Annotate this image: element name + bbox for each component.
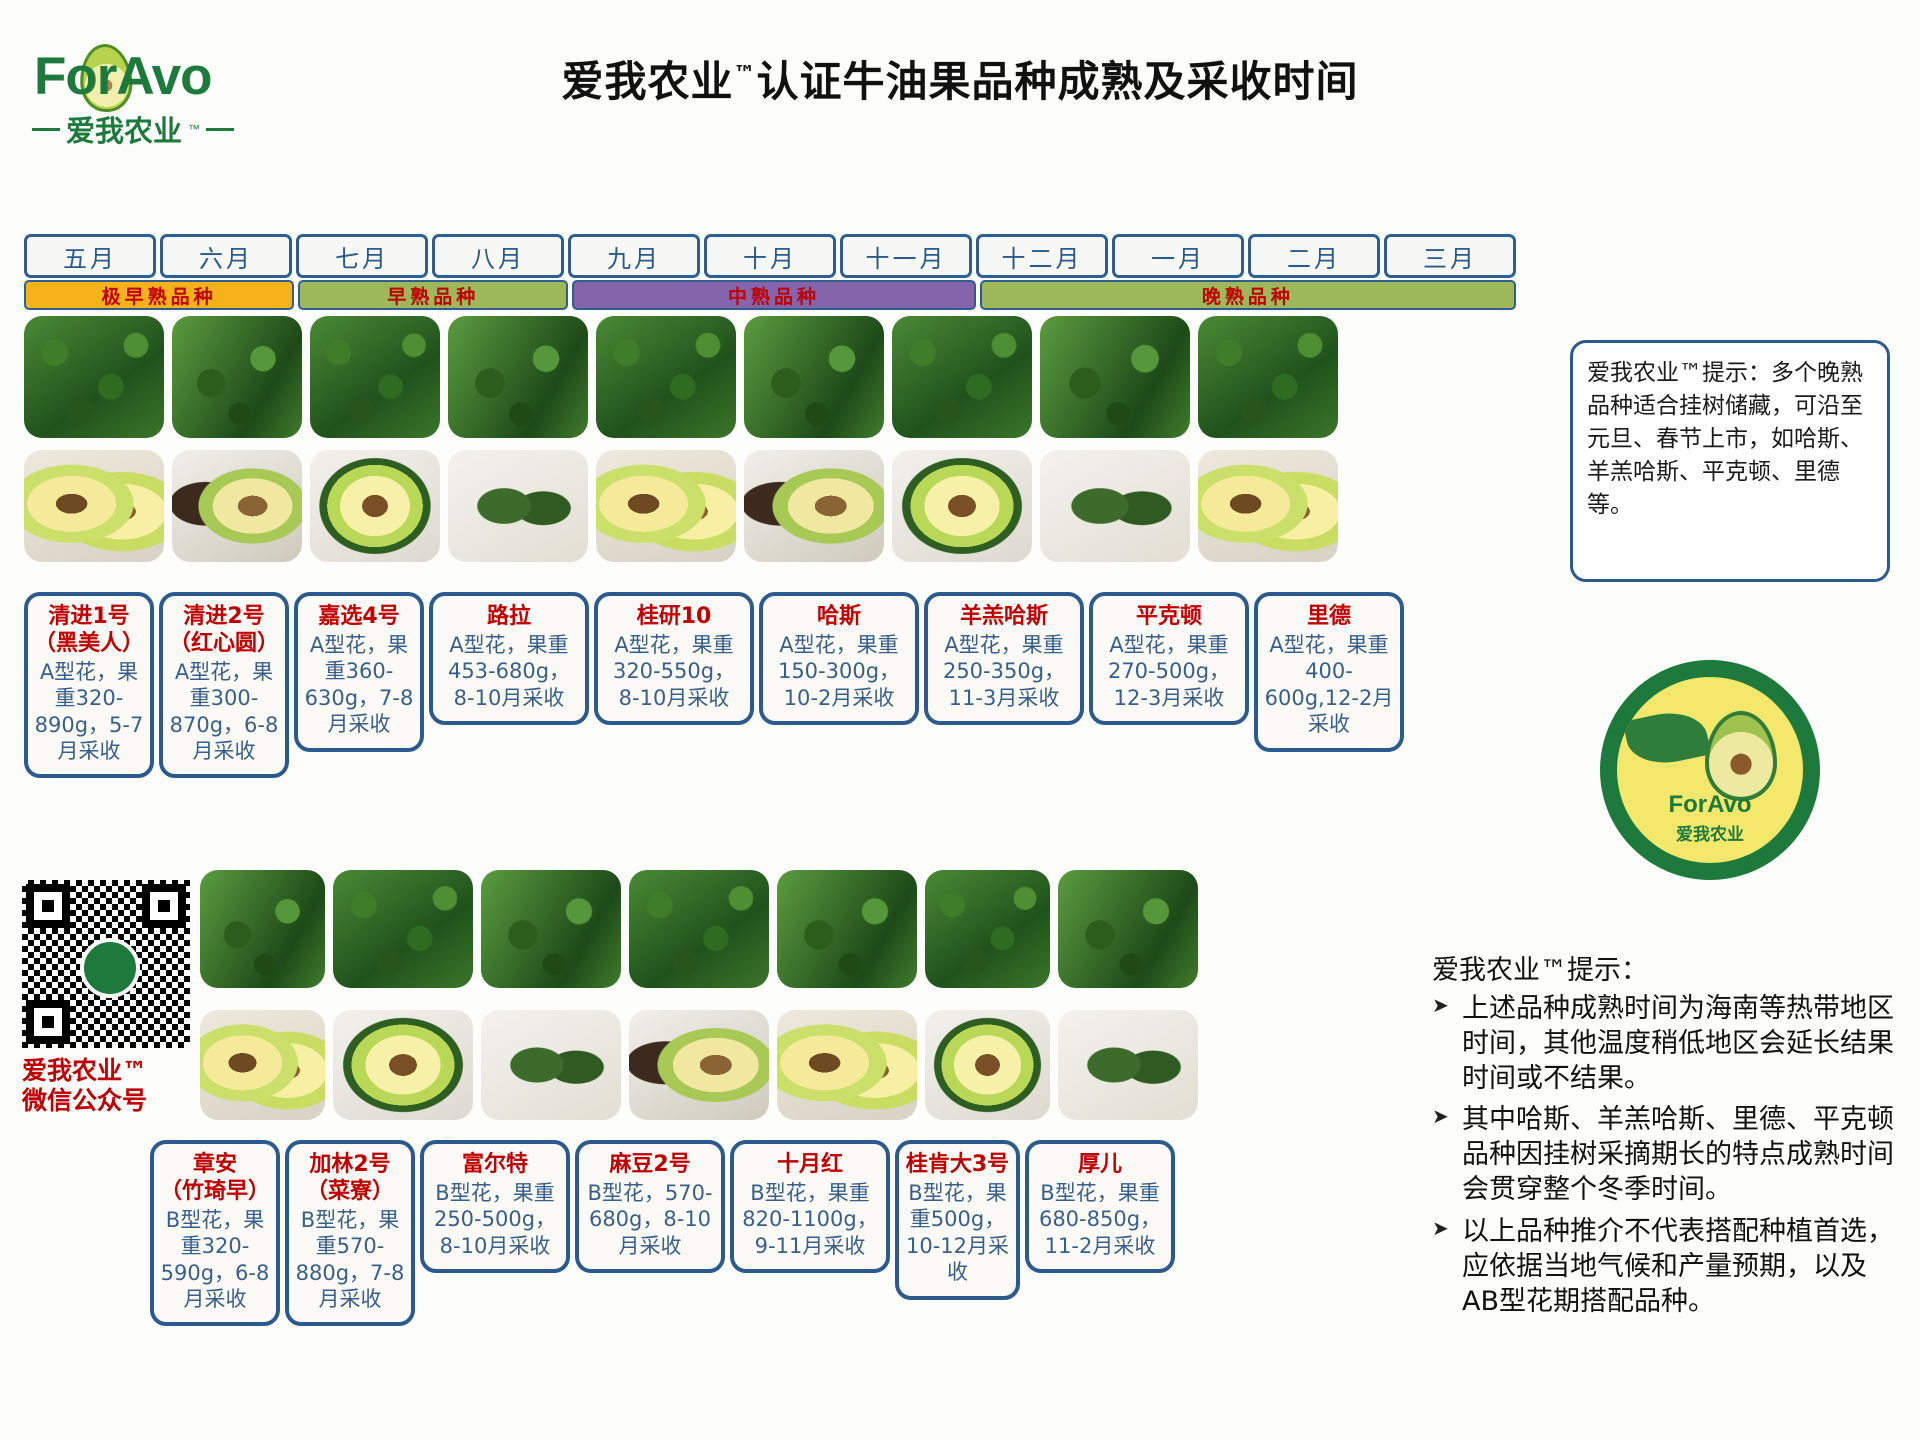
page-title-post: 认证牛油果品种成熟及采收时间: [757, 57, 1359, 106]
qr-caption: 爱我农业™ 微信公众号: [22, 1056, 192, 1116]
seal-inner: ForAvo 爱我农业: [1617, 677, 1803, 863]
fruit-photo-2: [172, 450, 302, 562]
title-trademark-icon: ™: [734, 62, 757, 87]
tip-box-top: 爱我农业™提示：多个晚熟品种适合挂树储藏，可沿至元旦、春节上市，如哈斯、羊羔哈斯…: [1570, 340, 1890, 582]
notes-list: 上述品种成熟时间为海南等热带地区时间，其他温度稍低地区会延长结果时间或不结果。其…: [1432, 991, 1902, 1319]
variety-description: A型花，果重250-350g，11-3月采收: [934, 632, 1074, 711]
variety-card-b-2[interactable]: 加林2号（菜寮）B型花，果重570-880g，7-8月采收: [285, 1140, 415, 1326]
tree-photo-12: [481, 870, 621, 988]
variety-name: 嘉选4号: [304, 604, 414, 631]
fruit-photo-11: [333, 1010, 473, 1120]
row1-variety-cards: 清进1号（黑美人）A型花，果重320-890g，5-7月采收清进2号（红心圆）A…: [24, 592, 1404, 778]
month-cell-1: 五月: [24, 234, 156, 278]
fruit-photo-6: [744, 450, 884, 562]
variety-description: A型花，果重270-500g，12-3月采收: [1099, 632, 1239, 711]
variety-description: A型花，果重300-870g，6-8月采收: [169, 659, 279, 765]
variety-card-a-2[interactable]: 清进2号（红心圆）A型花，果重300-870g，6-8月采收: [159, 592, 289, 778]
seal-chinese-name: 爱我农业: [1617, 820, 1803, 845]
variety-card-b-6[interactable]: 桂肯大3号B型花，果重500g，10-12月采收: [895, 1140, 1020, 1300]
tree-photo-9: [1198, 316, 1338, 438]
row2-variety-cards: 章安（竹琦早）B型花，果重320-590g，6-8月采收加林2号（菜寮）B型花，…: [150, 1140, 1175, 1326]
variety-name: 羊羔哈斯: [934, 604, 1074, 631]
notes-heading: 爱我农业™提示：: [1432, 948, 1902, 987]
variety-description: B型花，果重570-880g，7-8月采收: [295, 1207, 405, 1313]
variety-card-a-3[interactable]: 嘉选4号A型花，果重360-630g，7-8月采收: [294, 592, 424, 752]
tree-photo-11: [333, 870, 473, 988]
month-cell-11: 三月: [1384, 234, 1516, 278]
fruit-photo-3: [310, 450, 440, 562]
variety-card-a-6[interactable]: 哈斯A型花，果重150-300g，10-2月采收: [759, 592, 919, 725]
variety-description: A型花，果重453-680g，8-10月采收: [439, 632, 579, 711]
tree-photo-16: [1058, 870, 1198, 988]
tree-photo-2: [172, 316, 302, 438]
tree-photo-1: [24, 316, 164, 438]
variety-description: B型花，果重500g，10-12月采收: [905, 1180, 1010, 1286]
variety-description: B型花，果重250-500g，8-10月采收: [430, 1180, 560, 1259]
page-header: ForAvo 爱我农业 ™ 爱我农业™认证牛油果品种成熟及采收时间: [0, 0, 1920, 170]
month-cell-2: 六月: [160, 234, 292, 278]
month-cell-6: 十月: [704, 234, 836, 278]
variety-card-a-5[interactable]: 桂研10A型花，果重320-550g，8-10月采收: [594, 592, 754, 725]
foravo-seal-badge: ForAvo 爱我农业: [1600, 660, 1820, 880]
variety-name: 桂研10: [604, 604, 744, 631]
qr-caption-line1: 爱我农业™: [22, 1056, 192, 1086]
variety-name: 里德: [1264, 604, 1394, 631]
variety-name: 清进2号（红心圆）: [169, 604, 279, 658]
tree-photo-10: [200, 870, 325, 988]
qr-finder-top-right-icon: [142, 884, 186, 928]
tree-photo-4: [448, 316, 588, 438]
fruit-photo-8: [1040, 450, 1190, 562]
variety-name: 清进1号（黑美人）: [34, 604, 144, 658]
qr-finder-top-left-icon: [26, 884, 70, 928]
variety-name: 哈斯: [769, 604, 909, 631]
variety-description: A型花，果重400-600g,12-2月采收: [1264, 632, 1394, 738]
bottom-notes: 爱我农业™提示： 上述品种成熟时间为海南等热带地区时间，其他温度稍低地区会延长结…: [1432, 948, 1902, 1325]
variety-description: B型花，570-680g，8-10月采收: [585, 1180, 715, 1259]
variety-card-a-4[interactable]: 路拉A型花，果重453-680g，8-10月采收: [429, 592, 589, 725]
variety-name: 加林2号（菜寮）: [295, 1152, 405, 1206]
avocado-half-icon: [1705, 711, 1777, 801]
tree-photo-3: [310, 316, 440, 438]
variety-name: 麻豆2号: [585, 1152, 715, 1179]
ripeness-band-4: 晚熟品种: [980, 280, 1516, 310]
ripeness-band-2: 早熟品种: [298, 280, 568, 310]
variety-description: B型花，果重680-850g，11-2月采收: [1035, 1180, 1165, 1259]
variety-card-a-9[interactable]: 里德A型花，果重400-600g,12-2月采收: [1254, 592, 1404, 752]
variety-name: 桂肯大3号: [905, 1152, 1010, 1179]
tree-photo-15: [925, 870, 1050, 988]
variety-card-b-1[interactable]: 章安（竹琦早）B型花，果重320-590g，6-8月采收: [150, 1140, 280, 1326]
fruit-photo-12: [481, 1010, 621, 1120]
variety-name: 平克顿: [1099, 604, 1239, 631]
tree-photo-14: [777, 870, 917, 988]
page-title-pre: 爱我农业: [561, 57, 733, 106]
fruit-photo-5: [596, 450, 736, 562]
variety-description: B型花，果重320-590g，6-8月采收: [160, 1207, 270, 1313]
month-cell-8: 十二月: [976, 234, 1108, 278]
tree-photo-6: [744, 316, 884, 438]
variety-name: 十月红: [740, 1152, 880, 1179]
logo-wordmark: ForAvo: [34, 50, 212, 103]
month-cell-9: 一月: [1112, 234, 1244, 278]
fruit-photo-1: [24, 450, 164, 562]
fruit-photo-13: [629, 1010, 769, 1120]
variety-card-a-8[interactable]: 平克顿A型花，果重270-500g，12-3月采收: [1089, 592, 1249, 725]
ripeness-band-3: 中熟品种: [572, 280, 975, 310]
row2-fruit-photo-strip: [200, 1010, 1198, 1120]
fruit-photo-16: [1058, 1010, 1198, 1120]
seal-wordmark: ForAvo: [1617, 791, 1803, 819]
rule-left-icon: [32, 128, 60, 131]
tree-photo-13: [629, 870, 769, 988]
row2-tree-photo-strip: [200, 870, 1198, 988]
variety-card-a-1[interactable]: 清进1号（黑美人）A型花，果重320-890g，5-7月采收: [24, 592, 154, 778]
month-cell-3: 七月: [296, 234, 428, 278]
fruit-photo-9: [1198, 450, 1338, 562]
row1-tree-photo-strip: [24, 316, 1338, 438]
variety-description: A型花，果重360-630g，7-8月采收: [304, 632, 414, 738]
rule-right-icon: [206, 128, 234, 131]
tree-photo-7: [892, 316, 1032, 438]
fruit-photo-4: [448, 450, 588, 562]
qr-center-logo-icon: [80, 938, 140, 998]
ripeness-band-timeline: 极早熟品种早熟品种中熟品种晚熟品种: [24, 280, 1516, 310]
logo-chinese-name: 爱我农业: [66, 108, 182, 150]
qr-code-icon[interactable]: [22, 880, 190, 1048]
trademark-icon: ™: [188, 122, 200, 136]
row1-fruit-photo-strip: [24, 450, 1338, 562]
note-item-2: 其中哈斯、羊羔哈斯、里德、平克顿品种因挂树采摘期长的特点成熟时间会贯穿整个冬季时…: [1432, 1102, 1902, 1207]
ripeness-band-1: 极早熟品种: [24, 280, 294, 310]
variety-name: 富尔特: [430, 1152, 560, 1179]
variety-description: B型花，果重820-1100g，9-11月采收: [740, 1180, 880, 1259]
note-item-3: 以上品种推介不代表搭配种植首选，应依据当地气候和产量预期，以及AB型花期搭配品种…: [1432, 1214, 1902, 1319]
wechat-qr-block: 爱我农业™ 微信公众号: [22, 880, 192, 1116]
variety-name: 章安（竹琦早）: [160, 1152, 270, 1206]
month-timeline: 五月六月七月八月九月十月十一月十二月一月二月三月: [24, 234, 1516, 278]
variety-card-b-7[interactable]: 厚儿B型花，果重680-850g，11-2月采收: [1025, 1140, 1175, 1273]
logo-subtitle: 爱我农业 ™: [32, 108, 282, 150]
fruit-photo-7: [892, 450, 1032, 562]
fruit-photo-15: [925, 1010, 1050, 1120]
qr-caption-line2: 微信公众号: [22, 1086, 192, 1116]
variety-description: A型花，果重150-300g，10-2月采收: [769, 632, 909, 711]
variety-card-a-7[interactable]: 羊羔哈斯A型花，果重250-350g，11-3月采收: [924, 592, 1084, 725]
fruit-photo-10: [200, 1010, 325, 1120]
note-item-1: 上述品种成熟时间为海南等热带地区时间，其他温度稍低地区会延长结果时间或不结果。: [1432, 991, 1902, 1096]
tree-photo-5: [596, 316, 736, 438]
variety-card-b-5[interactable]: 十月红B型花，果重820-1100g，9-11月采收: [730, 1140, 890, 1273]
variety-name: 路拉: [439, 604, 579, 631]
variety-card-b-4[interactable]: 麻豆2号B型花，570-680g，8-10月采收: [575, 1140, 725, 1273]
qr-finder-bottom-left-icon: [26, 1000, 70, 1044]
month-cell-4: 八月: [432, 234, 564, 278]
variety-card-b-3[interactable]: 富尔特B型花，果重250-500g，8-10月采收: [420, 1140, 570, 1273]
month-cell-7: 十一月: [840, 234, 972, 278]
month-cell-10: 二月: [1248, 234, 1380, 278]
foravo-logo: ForAvo 爱我农业 ™: [28, 28, 288, 138]
variety-description: A型花，果重320-550g，8-10月采收: [604, 632, 744, 711]
variety-description: A型花，果重320-890g，5-7月采收: [34, 659, 144, 765]
leaf-icon: [1623, 705, 1712, 771]
page-title: 爱我农业™认证牛油果品种成熟及采收时间: [400, 48, 1520, 109]
tree-photo-8: [1040, 316, 1190, 438]
fruit-photo-14: [777, 1010, 917, 1120]
month-cell-5: 九月: [568, 234, 700, 278]
variety-name: 厚儿: [1035, 1152, 1165, 1179]
